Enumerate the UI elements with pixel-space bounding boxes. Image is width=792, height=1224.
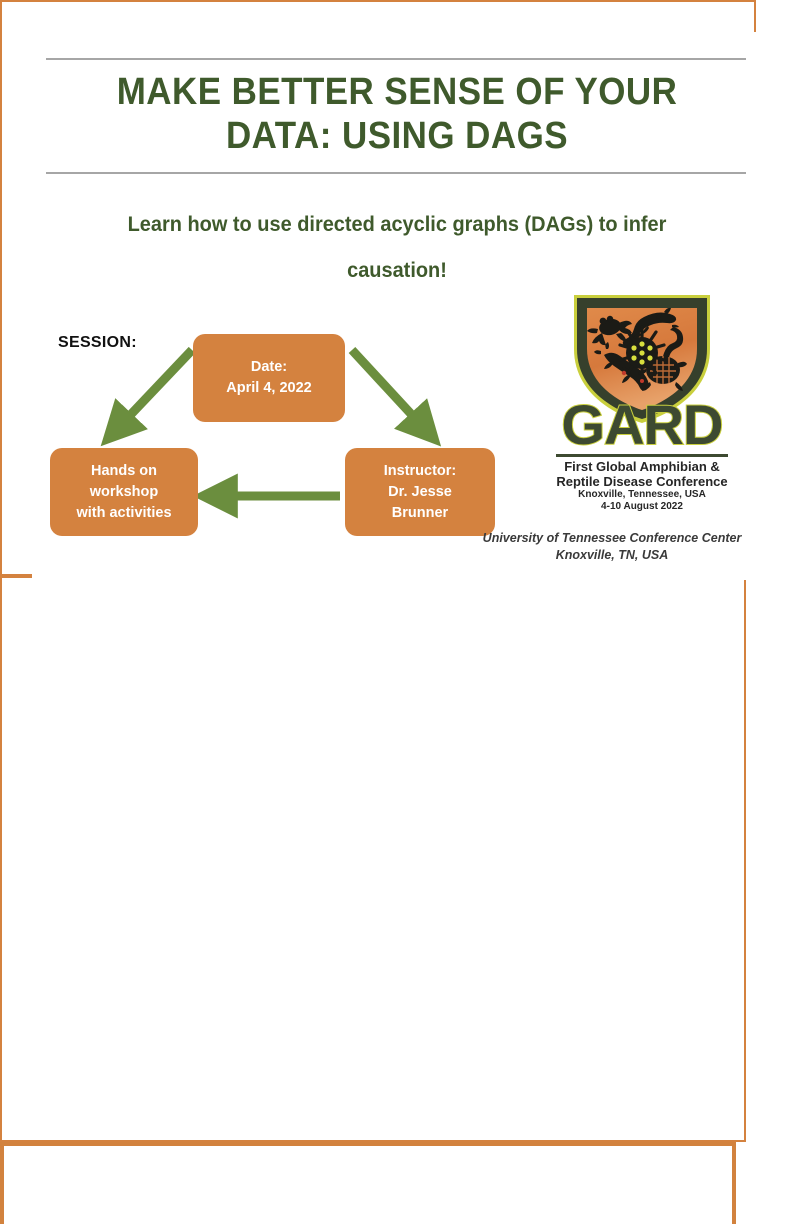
gard-logo: GARD First Global Amphibian & Reptile Di… <box>532 287 752 547</box>
logo-location: Knoxville, Tennessee, USA <box>532 489 752 501</box>
node-date-line2: April 4, 2022 <box>226 378 311 399</box>
logo-dates: 4-10 August 2022 <box>532 501 752 513</box>
logo-tagline-line2: Reptile Disease Conference <box>532 474 752 489</box>
venue-line1: University of Tennessee Conference Cente… <box>472 530 752 547</box>
node-instructor-line1: Instructor: <box>384 461 457 482</box>
frame-middle-line <box>0 576 746 1142</box>
node-instructor-line2: Dr. Jesse <box>384 482 457 503</box>
red-dot-left <box>622 371 626 375</box>
node-instructor-line3: Brunner <box>384 503 457 524</box>
frame-inner-line <box>0 1142 736 1224</box>
node-hands-line1: Hands on <box>76 461 171 482</box>
node-date[interactable]: Date: April 4, 2022 <box>193 334 345 422</box>
session-label: SESSION: <box>58 334 137 352</box>
red-dot-center <box>640 379 644 383</box>
node-date-line1: Date: <box>226 357 311 378</box>
slide: MAKE BETTER SENSE OF YOUR DATA: USING DA… <box>0 0 792 612</box>
arrow-date-to-instructor <box>352 350 424 428</box>
slide-canvas: MAKE BETTER SENSE OF YOUR DATA: USING DA… <box>32 32 760 580</box>
venue-block: University of Tennessee Conference Cente… <box>472 530 752 564</box>
node-hands-line3: with activities <box>76 503 171 524</box>
node-hands-on-workshop[interactable]: Hands on workshop with activities <box>50 448 198 536</box>
venue-line2: Knoxville, TN, USA <box>472 547 752 564</box>
node-hands-line2: workshop <box>76 482 171 503</box>
node-instructor[interactable]: Instructor: Dr. Jesse Brunner <box>345 448 495 536</box>
arrow-date-to-handson <box>118 350 192 428</box>
gard-wordmark: GARD <box>532 397 752 453</box>
gard-wordmark-block: GARD First Global Amphibian & Reptile Di… <box>532 397 752 513</box>
logo-tagline-line1: First Global Amphibian & <box>532 459 752 474</box>
